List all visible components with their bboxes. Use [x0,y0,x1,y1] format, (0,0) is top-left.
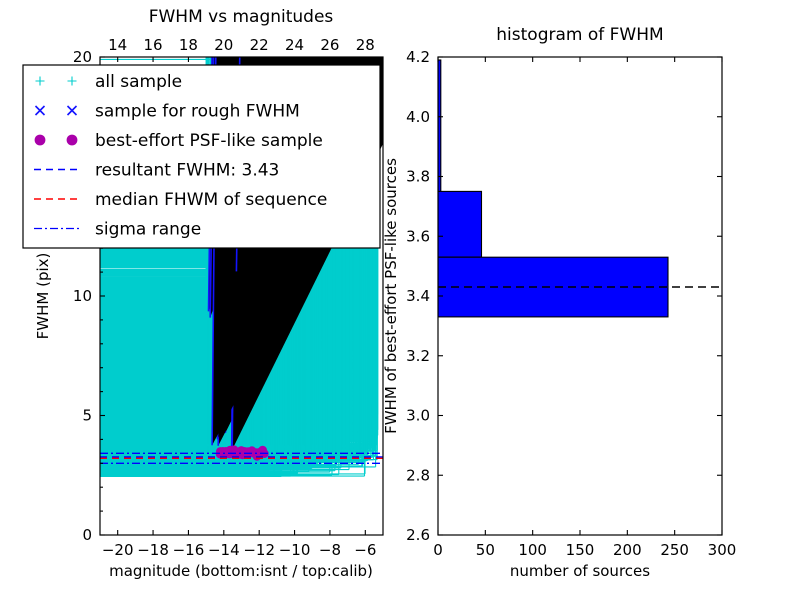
scatter-title: FWHM vs magnitudes [149,7,334,27]
legend-box [23,65,380,248]
hist-ytick-label: 3.8 [406,168,430,186]
xtick-label: −12 [243,541,275,559]
hist-ytick-label: 3.4 [406,287,430,305]
matplotlib-figure: −20−18−16−14−12−10−8−6 1416182022242628 … [0,0,800,600]
hist-ytick-label: 3.0 [406,407,430,425]
legend-dot-icon [67,135,78,146]
top-xtick-label: 24 [285,36,304,54]
top-xtick-label: 28 [356,36,375,54]
xtick-label: −20 [102,541,134,559]
hist-ytick-label: 2.8 [406,466,430,484]
top-xtick-label: 14 [108,36,127,54]
scatter-xlabel: magnitude (bottom:isnt / top:calib) [109,562,373,580]
ytick-label: 10 [73,287,92,305]
xtick-label: −16 [173,541,205,559]
ytick-label: 0 [82,526,92,544]
top-xtick-label: 16 [144,36,163,54]
xtick-label: −6 [354,541,376,559]
hist-xtick-label: 300 [708,541,737,559]
hist-xtick-label: 0 [433,541,443,559]
legend-dot-icon [35,135,46,146]
hist-xtick-label: 250 [660,541,689,559]
xtick-label: −18 [137,541,169,559]
scatter-bottom-xticks: −20−18−16−14−12−10−8−6 [102,530,377,559]
legend-label: sample for rough FWHM [95,102,300,122]
xtick-label: −14 [208,541,240,559]
top-xtick-label: 18 [179,36,198,54]
legend-label: all sample [95,72,182,92]
scatter-ylabel: FWHM (pix) [34,253,52,340]
histogram-bars [438,60,668,317]
legend-label: resultant FWHM: 3.43 [95,161,279,181]
histogram-bar [438,191,482,257]
hist-ytick-label: 2.6 [406,526,430,544]
legend-label: sigma range [95,220,201,240]
plot-canvas: −20−18−16−14−12−10−8−6 1416182022242628 … [0,0,800,600]
xtick-label: −10 [279,541,311,559]
hist-xtick-label: 150 [566,541,595,559]
hist-ytick-label: 4.2 [406,48,430,66]
hist-xtick-label: 50 [476,541,495,559]
hist-ytick-label: 3.2 [406,347,430,365]
hist-xtick-label: 200 [613,541,642,559]
ytick-label: 20 [73,48,92,66]
hist-xtick-label: 100 [518,541,547,559]
legend-label: median FHWM of sequence [95,190,327,210]
histogram-bars-group [438,60,722,317]
legend-label: best-effort PSF-like sample [95,131,323,151]
top-xtick-label: 22 [250,36,269,54]
histogram-ylabel: FWHM of best-effort PSF-like sources [382,158,400,434]
histogram-panel: 050100150200250300 2.62.83.03.23.43.63.8… [382,25,736,580]
ytick-label: 5 [82,407,92,425]
hist-ytick-label: 4.0 [406,108,430,126]
top-xtick-label: 20 [214,36,233,54]
legend[interactable]: all samplesample for rough FWHMbest-effo… [23,65,380,248]
top-xtick-label: 26 [320,36,339,54]
histogram-xlabel: number of sources [510,562,650,580]
xtick-label: −8 [319,541,341,559]
histogram-title: histogram of FWHM [496,25,663,45]
hist-ytick-label: 3.6 [406,227,430,245]
